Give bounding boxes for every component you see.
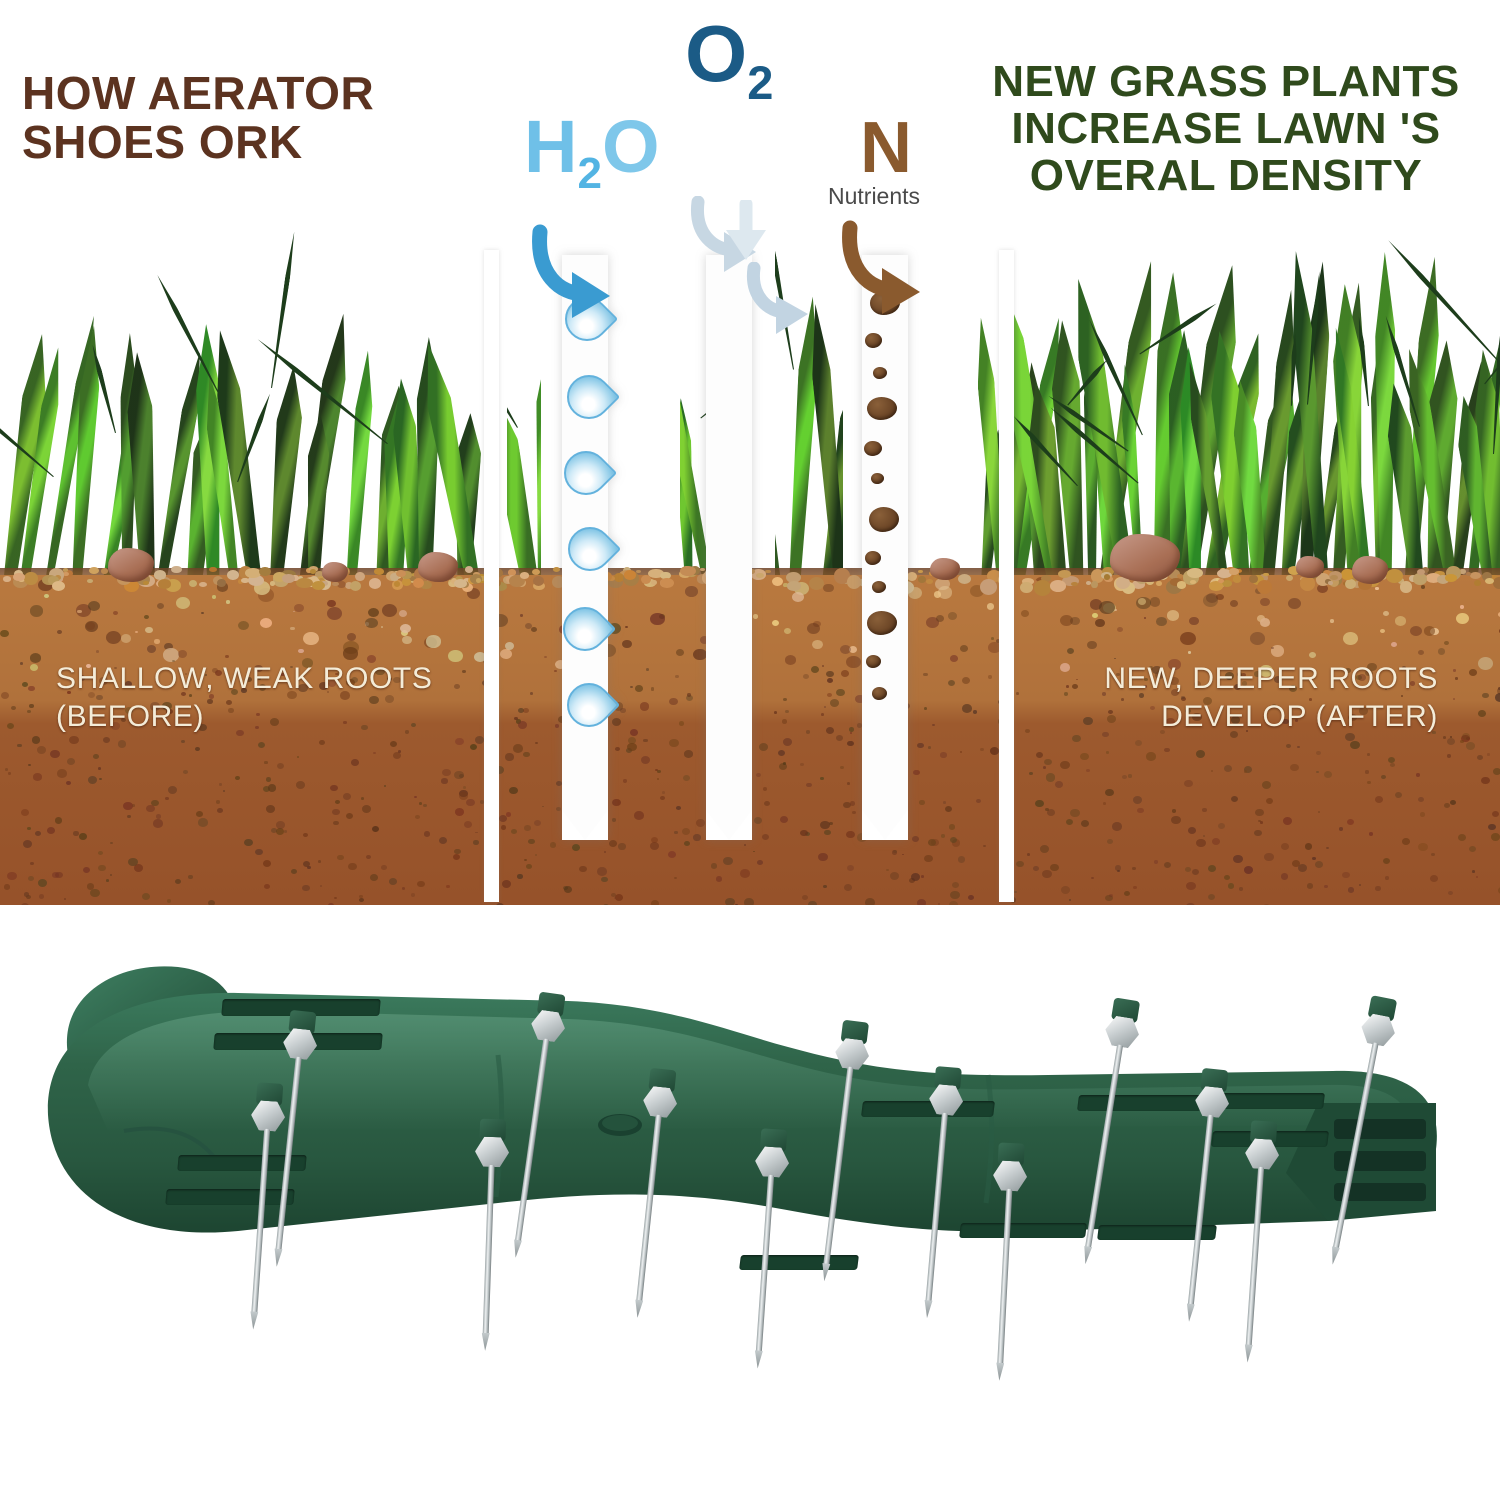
soil-speck (662, 791, 665, 794)
soil-speck (20, 662, 23, 665)
soil-speck (1469, 669, 1477, 676)
surface-pebble (1345, 579, 1356, 590)
soil-speck (635, 685, 643, 692)
soil-speck (660, 796, 665, 800)
soil-speck (1307, 883, 1313, 888)
soil-speck (528, 839, 534, 844)
soil-speck (290, 627, 294, 631)
soil-speck (952, 882, 959, 888)
surface-pebble (624, 570, 637, 580)
soil-speck (762, 834, 769, 840)
soil-speck (1202, 808, 1206, 812)
soil-speck (1076, 679, 1078, 681)
soil-speck (646, 668, 649, 671)
soil-speck (23, 840, 32, 848)
soil-speck (419, 802, 422, 805)
soil-speck (153, 819, 163, 827)
soil-speck (258, 742, 265, 748)
soil-speck (620, 708, 625, 713)
soil-speck (64, 898, 66, 900)
soil-speck (381, 865, 387, 870)
soil-speck (643, 739, 647, 743)
soil-speck (39, 894, 44, 898)
soil-speck (35, 831, 41, 836)
grass-blade-cross (155, 274, 221, 394)
soil-speck (783, 762, 786, 765)
soil-speck (723, 857, 733, 865)
aeration-infographic: SHALLOW, WEAK ROOTS (BEFORE) NEW, DEEPER… (0, 0, 1500, 905)
soil-speck (676, 649, 684, 656)
soil-speck (103, 737, 110, 743)
soil-speck (332, 809, 340, 816)
soil-speck (612, 799, 621, 806)
soil-speck (1233, 855, 1243, 863)
soil-speck (651, 687, 655, 690)
soil-speck (382, 604, 397, 617)
soil-speck (32, 736, 41, 743)
soil-speck (555, 724, 560, 728)
soil-speck (455, 738, 464, 746)
soil-speck (343, 793, 351, 800)
soil-speck (1381, 775, 1386, 779)
surface-rock (108, 548, 154, 582)
soil-speck (780, 816, 788, 823)
soil-speck (1156, 617, 1166, 626)
soil-speck (98, 767, 101, 770)
soil-speck (1033, 866, 1039, 871)
soil-speck (615, 747, 620, 751)
soil-speck (276, 828, 284, 835)
surface-pebble (394, 581, 400, 587)
soil-speck (277, 763, 284, 769)
soil-speck (343, 647, 357, 659)
soil-speck (1189, 617, 1198, 625)
soil-speck (1365, 770, 1369, 773)
soil-speck (523, 708, 529, 713)
soil-speck (847, 865, 854, 871)
soil-speck (683, 775, 690, 781)
soil-speck (836, 735, 843, 741)
soil-speck (393, 752, 401, 759)
soil-speck (298, 649, 303, 653)
soil-speck (361, 797, 364, 800)
product-listing-image: SHALLOW, WEAK ROOTS (BEFORE) NEW, DEEPER… (0, 0, 1500, 1500)
soil-speck (264, 884, 270, 889)
soil-speck (1367, 753, 1371, 756)
soil-speck (960, 645, 968, 652)
soil-speck (1184, 780, 1193, 788)
soil-speck (1492, 811, 1499, 817)
soil-speck (693, 649, 707, 661)
soil-speck (24, 892, 30, 897)
soil-speck (725, 898, 735, 905)
soil-speck (917, 743, 924, 749)
soil-speck (1138, 598, 1146, 605)
soil-speck (1288, 598, 1301, 609)
soil-speck (110, 842, 113, 845)
soil-speck (921, 875, 924, 878)
soil-speck (347, 633, 356, 641)
soil-speck (156, 814, 162, 819)
soil-speck (223, 790, 225, 792)
soil-speck (674, 831, 677, 834)
soil-speck (439, 837, 447, 844)
soil-speck (22, 682, 28, 687)
soil-speck (526, 864, 532, 869)
surface-pebble (89, 567, 99, 574)
soil-speck (263, 860, 271, 867)
soil-speck (319, 740, 325, 745)
soil-speck (823, 885, 827, 888)
soil-speck (1367, 781, 1371, 784)
oxygen-flow-arrow-icon-3 (746, 262, 832, 344)
soil-speck (57, 769, 67, 777)
soil-speck (1348, 887, 1354, 892)
soil-speck (466, 799, 475, 806)
soil-speck (1106, 751, 1109, 753)
oxygen-o: O (685, 9, 747, 98)
surface-pebble (680, 566, 696, 576)
soil-speck (517, 874, 522, 879)
soil-speck (911, 873, 921, 881)
soil-speck (365, 618, 378, 629)
soil-speck (836, 689, 845, 696)
soil-speck (1070, 809, 1080, 817)
soil-speck (1350, 741, 1360, 749)
soil-speck (960, 751, 962, 753)
soil-speck (820, 821, 830, 829)
soil-speck (83, 867, 90, 873)
surface-pebble (660, 578, 674, 588)
soil-speck (423, 804, 427, 808)
water-flow-arrow-icon (532, 222, 642, 322)
soil-speck (1402, 838, 1410, 845)
soil-speck (840, 766, 843, 769)
soil-speck (446, 885, 450, 888)
soil-speck (1218, 823, 1225, 829)
soil-speck (668, 851, 676, 858)
soil-speck (1395, 792, 1402, 798)
soil-speck (154, 639, 159, 644)
soil-speck (802, 895, 808, 900)
soil-speck (1430, 875, 1438, 882)
soil-speck (1488, 824, 1496, 830)
soil-speck (1203, 835, 1205, 837)
soil-speck (764, 801, 770, 806)
soil-speck (399, 610, 407, 617)
soil-speck (1060, 663, 1070, 671)
soil-speck (90, 889, 100, 897)
soil-speck (679, 721, 684, 725)
soil-speck (535, 742, 538, 744)
soil-speck (940, 752, 946, 757)
soil-speck (850, 801, 855, 806)
soil-speck (1347, 819, 1355, 826)
soil-speck (1, 692, 9, 699)
soil-speck (366, 855, 371, 859)
soil-speck (147, 645, 156, 653)
soil-speck (1460, 740, 1464, 743)
soil-speck (1460, 605, 1465, 609)
soil-speck (38, 879, 48, 887)
soil-speck (448, 650, 462, 662)
soil-speck (509, 787, 518, 795)
soil-speck (93, 754, 99, 759)
soil-speck (30, 862, 34, 865)
soil-speck (260, 618, 272, 628)
soil-speck (1254, 830, 1261, 836)
soil-speck (518, 721, 527, 728)
soil-speck (1318, 811, 1320, 813)
soil-speck (106, 631, 121, 644)
soil-speck (623, 779, 627, 783)
soil-speck (372, 826, 379, 832)
soil-speck (1186, 882, 1196, 890)
surface-pebble (476, 578, 481, 583)
soil-speck (424, 831, 430, 836)
soil-speck (640, 702, 650, 710)
soil-speck (847, 782, 851, 785)
panel-divider-left (484, 250, 499, 902)
soil-speck (983, 845, 986, 848)
soil-speck (11, 706, 16, 710)
soil-speck (1418, 650, 1424, 655)
soil-speck (1305, 843, 1312, 849)
soil-speck (1172, 809, 1176, 813)
soil-speck (1105, 789, 1113, 796)
surface-pebble (787, 581, 801, 590)
soil-speck (945, 806, 952, 812)
soil-speck (821, 713, 825, 716)
surface-pebble (454, 579, 467, 588)
soil-speck (37, 746, 47, 754)
soil-speck (684, 841, 690, 846)
surface-pebble (1474, 580, 1480, 586)
soil-speck (1477, 755, 1483, 760)
label-oxygen-formula: O2 (685, 14, 773, 106)
soil-speck (1107, 839, 1113, 844)
soil-speck (1482, 693, 1489, 699)
soil-speck (924, 707, 927, 710)
soil-speck (693, 834, 700, 840)
soil-speck (988, 675, 992, 679)
soil-speck (1316, 771, 1318, 773)
soil-speck (1196, 839, 1205, 847)
soil-speck (475, 736, 484, 744)
soil-speck (7, 723, 14, 729)
soil-speck (426, 635, 441, 647)
soil-speck (1203, 594, 1218, 607)
soil-speck (144, 615, 149, 619)
soil-speck (1036, 752, 1044, 758)
soil-speck (178, 650, 187, 658)
soil-speck (330, 785, 337, 791)
soil-speck (167, 899, 171, 902)
soil-speck (128, 858, 138, 866)
surface-rock (930, 558, 960, 580)
soil-speck (554, 670, 556, 672)
heading-how-aerator-shoes-work: HOW AERATOR SHOES ORK (22, 69, 492, 167)
soil-speck (520, 614, 523, 616)
soil-speck (217, 808, 223, 813)
soil-speck (132, 804, 135, 807)
soil-speck (1070, 617, 1079, 625)
soil-speck (7, 872, 16, 880)
soil-speck (17, 744, 21, 748)
soil-speck (351, 759, 359, 766)
soil-speck (913, 770, 920, 776)
soil-speck (1281, 873, 1289, 880)
soil-speck (1424, 626, 1435, 636)
soil-speck (1043, 766, 1047, 769)
soil-speck (1456, 613, 1469, 624)
soil-speck (980, 748, 984, 752)
surface-pebble (1485, 578, 1494, 584)
soil-speck (579, 866, 586, 872)
soil-speck (50, 750, 60, 758)
soil-speck (950, 655, 958, 662)
soil-speck (181, 740, 185, 743)
soil-speck (1369, 832, 1373, 836)
soil-speck (612, 718, 621, 726)
soil-speck (1196, 750, 1205, 758)
soil-speck (1192, 869, 1199, 875)
soil-speck (411, 893, 416, 897)
soil-speck (1188, 651, 1191, 653)
soil-speck (244, 839, 252, 846)
soil-speck (1069, 899, 1071, 901)
soil-speck (1326, 847, 1329, 850)
soil-speck (454, 684, 460, 689)
soil-speck (1164, 748, 1170, 753)
oxygen-subscript: 2 (747, 56, 773, 109)
surface-pebble (1071, 582, 1078, 586)
soil-speck (219, 783, 222, 785)
soil-speck (1081, 820, 1090, 827)
surface-pebble (312, 581, 325, 590)
surface-pebble (1058, 570, 1071, 578)
soil-label-after: NEW, DEEPER ROOTS DEVELOP (AFTER) (1104, 660, 1438, 736)
soil-speck (255, 849, 262, 855)
soil-speck (840, 645, 851, 654)
soil-speck (1466, 742, 1475, 749)
soil-speck (198, 818, 208, 826)
soil-speck (226, 600, 230, 603)
soil-speck (1455, 677, 1457, 679)
surface-rock (322, 562, 348, 582)
soil-speck (650, 842, 659, 850)
soil-speck (1021, 610, 1029, 617)
soil-speck (381, 626, 383, 628)
soil-speck (1122, 775, 1127, 779)
soil-speck (1132, 867, 1136, 870)
soil-speck (33, 773, 42, 780)
soil-speck (1117, 627, 1123, 632)
vent-slot (165, 1189, 294, 1205)
soil-speck (1478, 657, 1493, 670)
soil-speck (685, 586, 697, 597)
soil-speck (740, 869, 750, 877)
soil-speck (674, 877, 677, 880)
soil-speck (1115, 865, 1121, 870)
surface-pebble (241, 578, 248, 583)
soil-speck (302, 885, 309, 891)
soil-speck (1112, 822, 1122, 830)
soil-speck (475, 832, 477, 834)
water-h: H (524, 105, 577, 188)
soil-speck (27, 710, 31, 713)
soil-speck (886, 869, 889, 872)
soil-speck (1035, 800, 1044, 808)
soil-speck (373, 752, 376, 755)
soil-speck (622, 640, 632, 649)
soil-speck (753, 614, 758, 618)
soil-speck (1343, 632, 1358, 645)
soil-speck (774, 711, 777, 714)
soil-speck (1133, 886, 1137, 889)
soil-speck (890, 872, 899, 880)
soil-speck (604, 851, 606, 853)
soil-speck (453, 854, 460, 860)
soil-speck (1438, 648, 1446, 655)
soil-speck (511, 829, 517, 834)
grass-blade (507, 397, 541, 580)
soil-speck (1150, 597, 1161, 606)
soil-speck (1171, 816, 1180, 824)
water-channel (562, 255, 608, 840)
soil-speck (417, 881, 424, 887)
soil-speck (303, 861, 310, 867)
soil-speck (641, 756, 650, 764)
surface-pebble (636, 570, 641, 573)
soil-speck (1481, 777, 1490, 784)
soil-speck (1444, 803, 1450, 808)
soil-speck (1072, 735, 1081, 742)
soil-speck (238, 621, 249, 631)
soil-speck (1418, 843, 1427, 851)
soil-speck (783, 698, 787, 702)
soil-speck (1212, 838, 1220, 845)
soil-speck (1462, 733, 1470, 740)
soil-speck (949, 824, 955, 829)
soil-speck (1487, 753, 1490, 755)
soil-speck (44, 594, 49, 598)
soil-speck (976, 799, 981, 804)
soil-speck (1431, 853, 1435, 857)
grass-blade (343, 350, 376, 580)
soil-speck (657, 770, 661, 773)
soil-speck (135, 631, 138, 634)
soil-speck (822, 665, 824, 667)
surface-pebble (13, 573, 25, 581)
soil-speck (69, 736, 78, 744)
soil-speck (806, 730, 811, 734)
surface-pebble (1470, 572, 1481, 579)
soil-speck (1283, 817, 1293, 825)
soil-speck (1339, 827, 1344, 831)
soil-speck (844, 884, 852, 891)
soil-speck (88, 601, 100, 611)
soil-speck (183, 770, 188, 774)
soil-speck (1067, 648, 1074, 654)
soil-speck (675, 675, 679, 679)
soil-speck (462, 670, 466, 674)
soil-speck (296, 781, 305, 789)
soil-speck (318, 860, 321, 863)
soil-speck (1478, 710, 1487, 717)
soil-speck (195, 747, 200, 751)
soil-speck (958, 856, 966, 862)
